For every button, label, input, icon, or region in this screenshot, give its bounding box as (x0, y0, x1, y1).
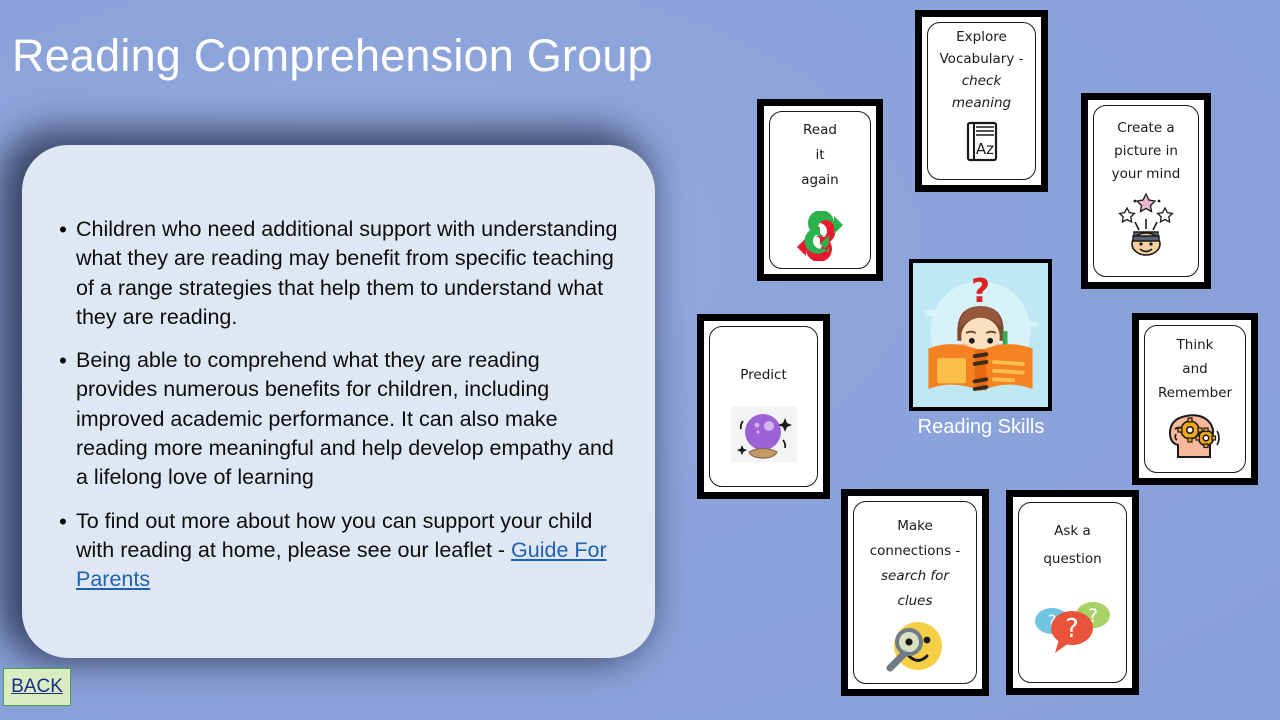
bullet-marker-icon: • (50, 215, 76, 244)
bullet-marker-icon: • (50, 507, 76, 536)
card-line: your mind (1112, 163, 1181, 186)
card-create-a-picture[interactable]: Create a picture in your mind (1081, 93, 1211, 289)
bullet-text-1: Children who need additional support wit… (76, 215, 621, 332)
card-line: picture in (1112, 140, 1181, 163)
card-explore-vocabulary[interactable]: Explore Vocabulary - check meaning Az (915, 10, 1048, 192)
bullet-item-3: • To find out more about how you can sup… (50, 507, 637, 595)
bullet-text-3: To find out more about how you can suppo… (76, 507, 621, 595)
card-inner: Create a picture in your mind (1088, 100, 1204, 282)
card-inner: Predict (704, 321, 823, 492)
card-inner: Ask a question ? ? ? (1013, 497, 1132, 688)
circular-arrows-icon (764, 197, 876, 274)
card-line: check (940, 70, 1024, 92)
card-line: it (801, 143, 838, 168)
svg-text:?: ? (971, 272, 990, 310)
card-inner: Read it again (764, 106, 876, 274)
head-with-gears-icon (1139, 407, 1251, 478)
card-ask-a-question[interactable]: Ask a question ? ? ? (1006, 490, 1139, 695)
bullet-item-1: • Children who need additional support w… (50, 215, 637, 332)
face-with-stars-icon (1088, 192, 1204, 282)
card-text-make-connections: Make connections - search for clues (861, 496, 970, 614)
card-text-predict: Predict (731, 321, 796, 388)
card-line: Remember (1158, 381, 1232, 405)
card-text-create-a-picture: Create a picture in your mind (1103, 100, 1190, 186)
card-inner: Explore Vocabulary - check meaning Az (922, 17, 1041, 185)
back-button-label: BACK (11, 676, 63, 698)
card-make-connections[interactable]: Make connections - search for clues (841, 489, 989, 696)
question-speech-bubbles-icon: ? ? ? (1013, 595, 1132, 688)
bullet-text-2: Being able to comprehend what they are r… (76, 346, 621, 492)
svg-text:?: ? (1065, 614, 1079, 644)
card-line: Ask a (1043, 517, 1101, 545)
card-read-it-again[interactable]: Read it again (757, 99, 883, 281)
bullet-marker-icon: • (50, 346, 76, 375)
bullet-list: • Children who need additional support w… (50, 215, 637, 609)
card-line: search for (870, 564, 961, 589)
dictionary-icon-label: Az (975, 140, 993, 158)
child-reading-book-icon: ? (913, 263, 1048, 407)
card-inner: Think and Remember (1139, 320, 1251, 478)
detective-magnifier-face-icon (848, 618, 982, 689)
reading-skills-figure[interactable]: ? (909, 259, 1052, 411)
reading-skills-caption: Reading Skills (890, 416, 1072, 439)
card-think-and-remember[interactable]: Think and Remember (1132, 313, 1258, 485)
page-title: Reading Comprehension Group (12, 30, 653, 82)
content-panel: • Children who need additional support w… (22, 145, 655, 658)
card-line: Vocabulary - (940, 48, 1024, 70)
crystal-ball-icon (704, 404, 823, 492)
back-button[interactable]: BACK (3, 668, 71, 706)
card-line: Read (801, 118, 838, 143)
card-predict[interactable]: Predict (697, 314, 830, 499)
card-line: Explore (940, 26, 1024, 48)
card-line: Think (1158, 333, 1232, 357)
card-line: clues (870, 589, 961, 614)
card-text-read-it-again: Read it again (792, 106, 847, 193)
card-line: again (801, 168, 838, 193)
card-line: Predict (740, 363, 787, 388)
card-line: connections - (870, 539, 961, 564)
card-text-think-and-remember: Think and Remember (1149, 320, 1241, 405)
card-inner: Make connections - search for clues (848, 496, 982, 689)
card-text-ask-a-question: Ask a question (1034, 497, 1110, 573)
card-line: Create a (1112, 117, 1181, 140)
card-line: Make (870, 514, 961, 539)
dictionary-book-icon: Az (922, 118, 1041, 185)
card-line: question (1043, 545, 1101, 573)
card-text-explore-vocabulary: Explore Vocabulary - check meaning (931, 17, 1033, 114)
bullet-item-2: • Being able to comprehend what they are… (50, 346, 637, 492)
card-line: and (1158, 357, 1232, 381)
card-line: meaning (940, 92, 1024, 114)
